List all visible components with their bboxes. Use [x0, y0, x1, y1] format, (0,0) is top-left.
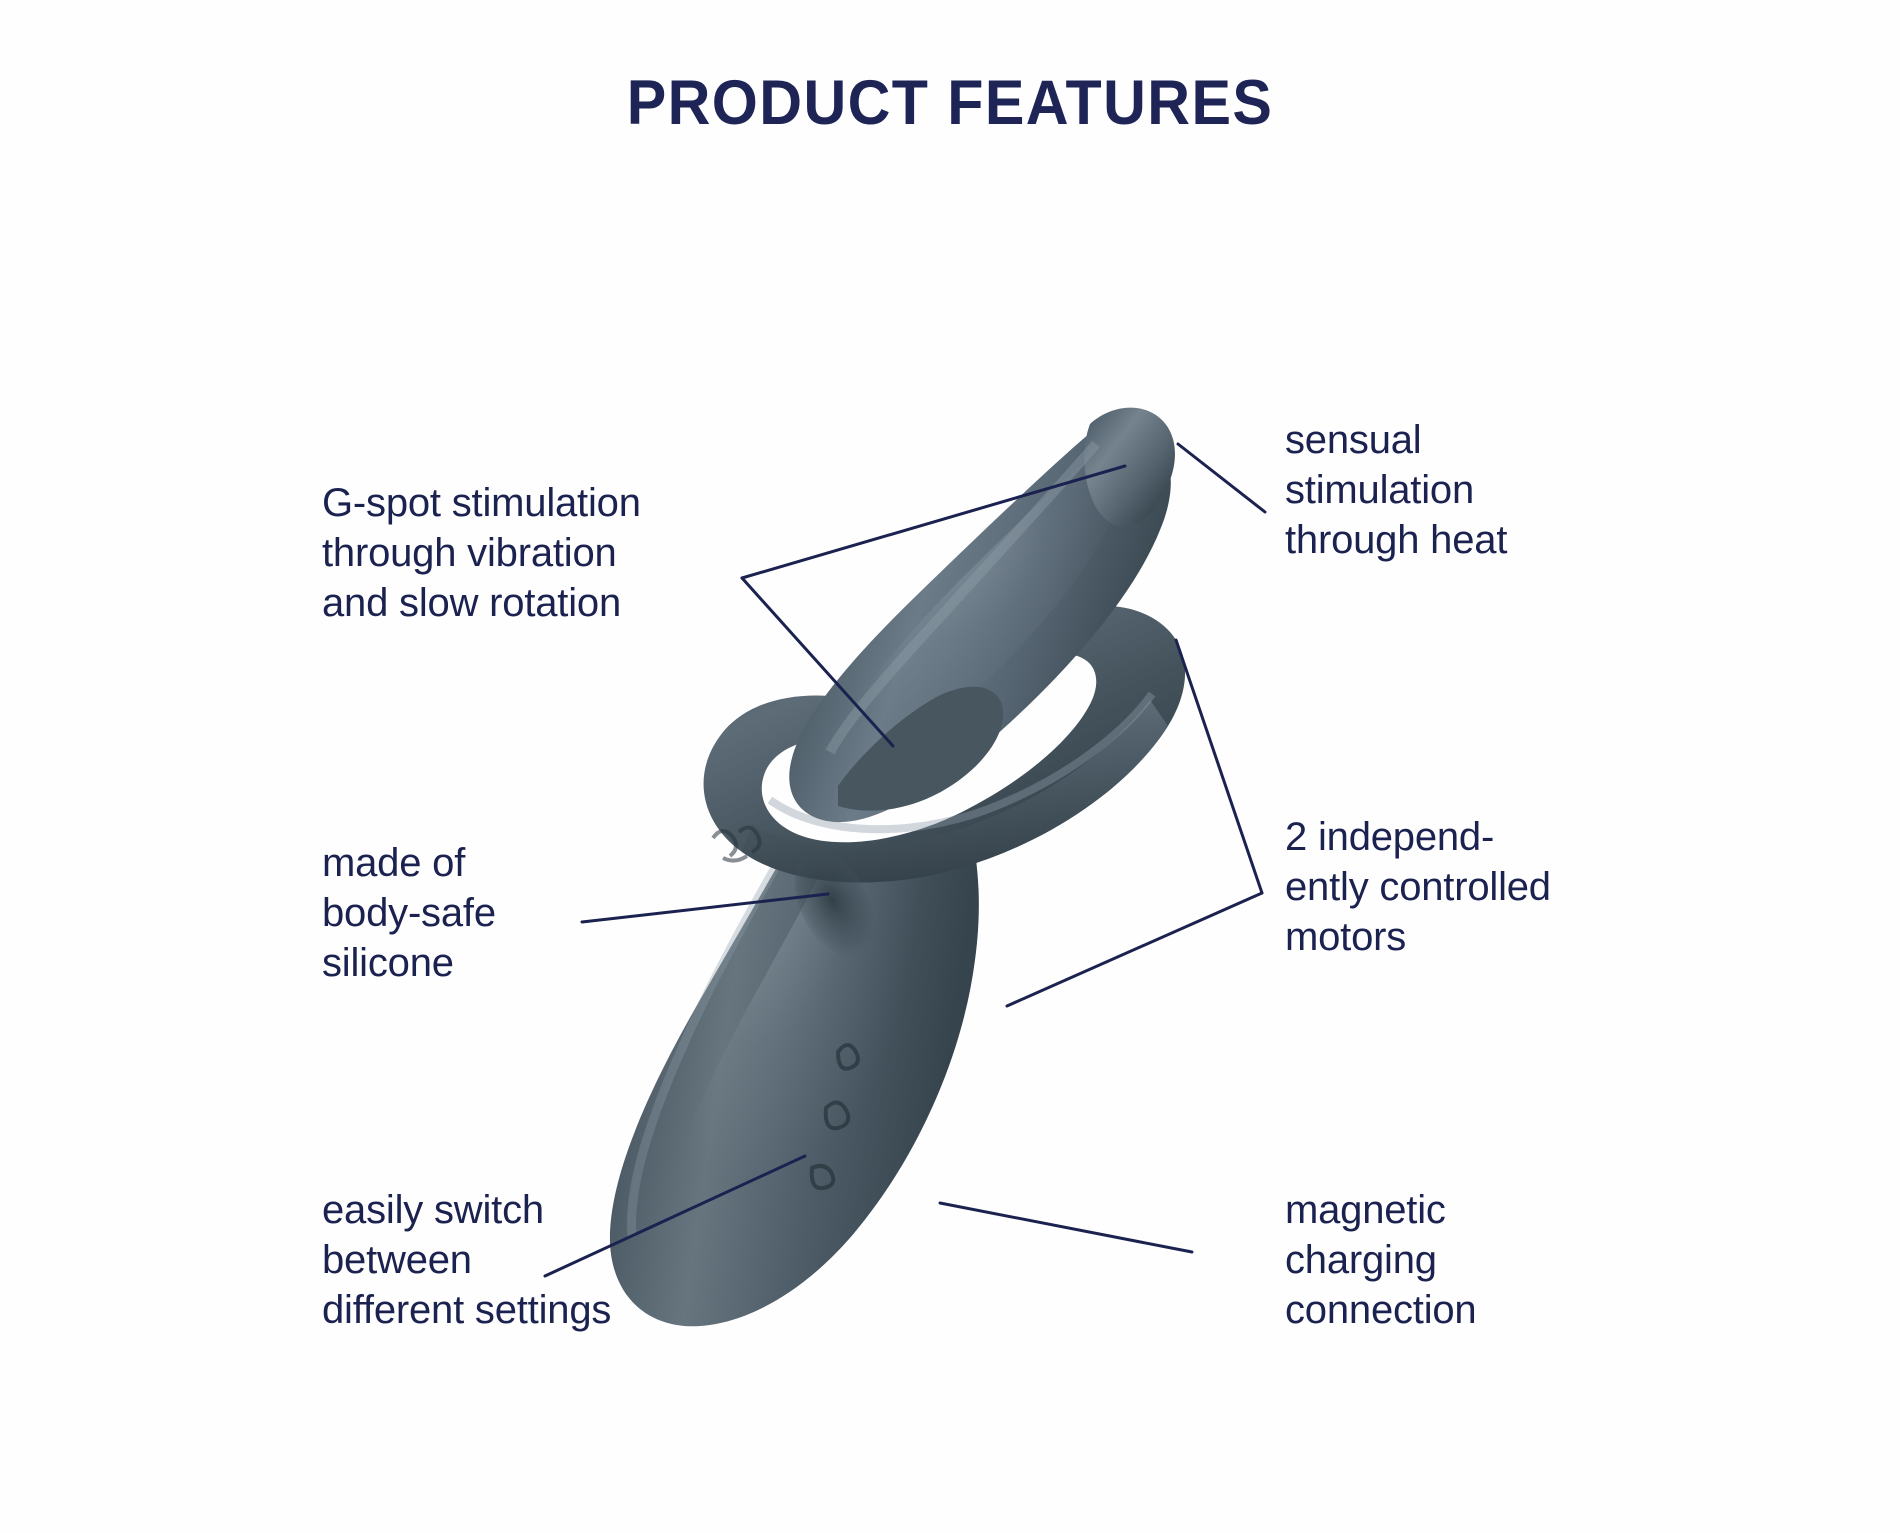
callout-body-safe-silicone: made of body-safe silicone — [322, 838, 662, 988]
product-features-diagram: PRODUCT FEATURES — [0, 0, 1900, 1533]
product-illustration — [0, 0, 1900, 1533]
callout-easily-switch-settings: easily switch between different settings — [322, 1185, 742, 1335]
callout-sensual-heat: sensual stimulation through heat — [1285, 415, 1615, 565]
callout-two-motors: 2 independ- ently controlled motors — [1285, 812, 1665, 962]
callout-magnetic-charging: magnetic charging connection — [1285, 1185, 1615, 1335]
callout-gspot-stimulation: G-spot stimulation through vibration and… — [322, 478, 792, 628]
